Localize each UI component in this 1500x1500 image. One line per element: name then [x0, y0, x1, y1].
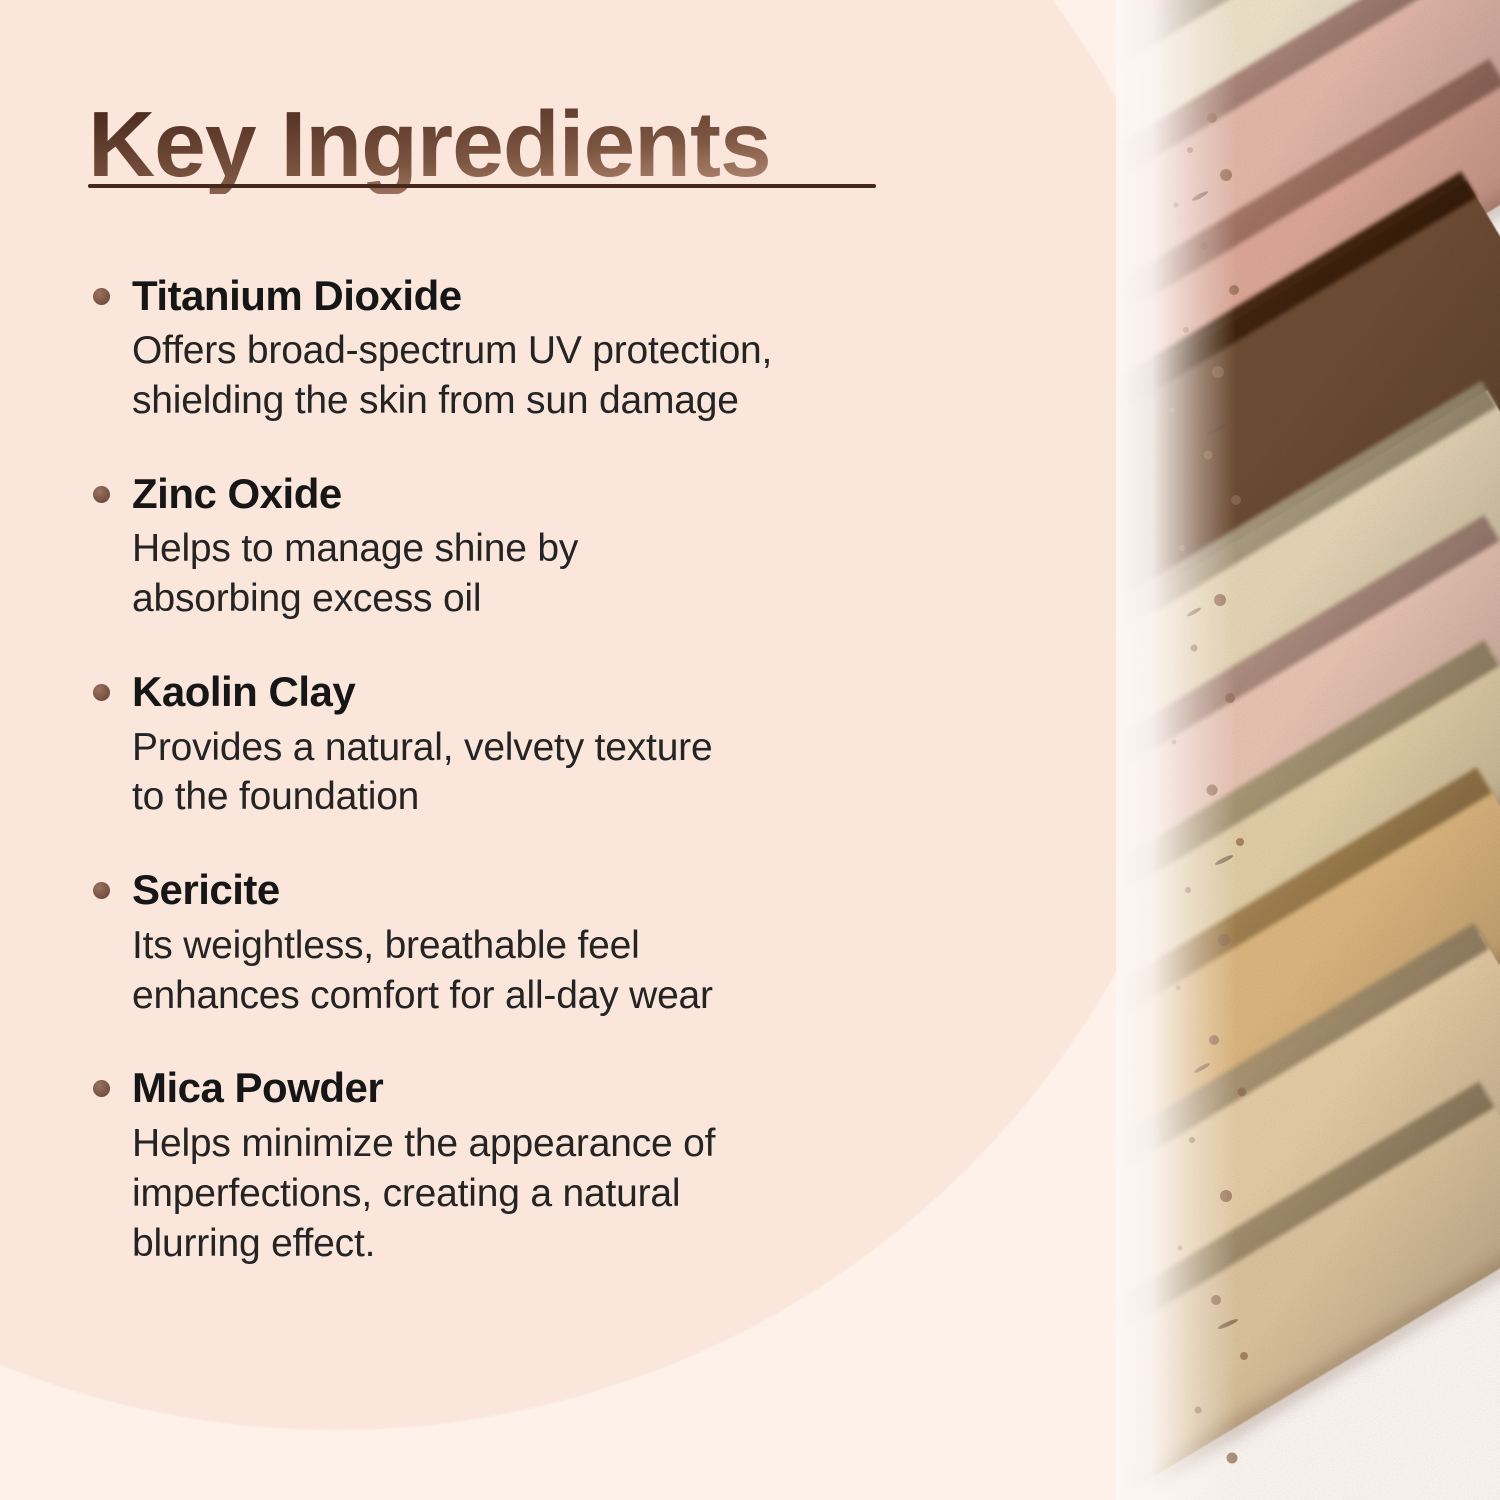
bullet-icon: [93, 1080, 110, 1097]
ingredient-item: Titanium DioxideOffers broad-spectrum UV…: [88, 272, 1008, 426]
ingredient-name: Mica Powder: [132, 1064, 1008, 1112]
ingredient-item: Zinc OxideHelps to manage shine by absor…: [88, 470, 1008, 624]
ingredient-name: Titanium Dioxide: [132, 272, 1008, 320]
ingredient-description: Offers broad-spectrum UV protection, shi…: [132, 326, 1008, 426]
key-ingredients-poster: Key Ingredients Titanium DioxideOffers b…: [0, 0, 1500, 1500]
bullet-icon: [93, 288, 110, 305]
ingredient-name: Sericite: [132, 866, 1008, 914]
ingredient-description: Provides a natural, velvety texture to t…: [132, 723, 1008, 823]
ingredient-description: Helps minimize the appearance of imperfe…: [132, 1119, 1008, 1269]
ingredient-item: SericiteIts weightless, breathable feel …: [88, 866, 1008, 1020]
bullet-icon: [93, 486, 110, 503]
ingredient-name: Zinc Oxide: [132, 470, 1008, 518]
ingredient-list: Titanium DioxideOffers broad-spectrum UV…: [88, 272, 1008, 1268]
ingredient-item: Mica PowderHelps minimize the appearance…: [88, 1064, 1008, 1268]
ingredient-name: Kaolin Clay: [132, 668, 1008, 716]
ingredient-description: Helps to manage shine by absorbing exces…: [132, 524, 1008, 624]
page-title: Key Ingredients: [88, 96, 771, 194]
bullet-icon: [93, 684, 110, 701]
ingredient-description: Its weightless, breathable feel enhances…: [132, 921, 1008, 1021]
content-column: Key Ingredients Titanium DioxideOffers b…: [0, 0, 1060, 1500]
ingredient-item: Kaolin ClayProvides a natural, velvety t…: [88, 668, 1008, 822]
page-title-wrap: Key Ingredients: [88, 96, 771, 194]
powder-swatch-photo: [1116, 0, 1500, 1500]
bullet-icon: [93, 882, 110, 899]
page-title-underline: [88, 184, 876, 188]
